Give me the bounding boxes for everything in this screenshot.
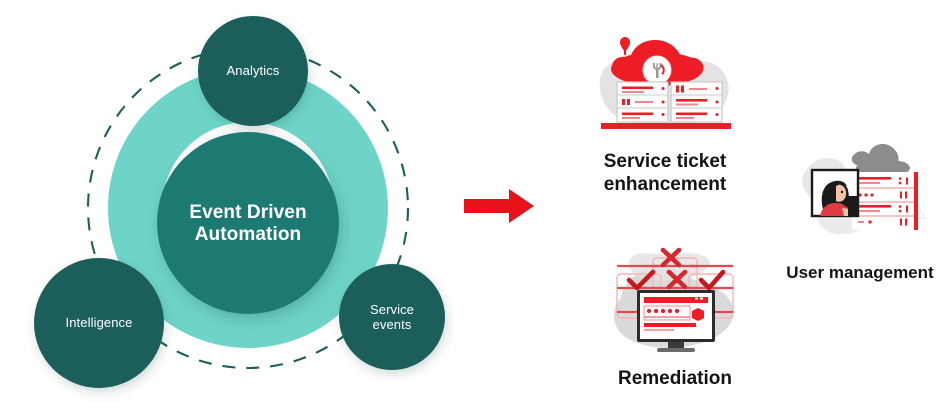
capability-label-user-management: User management [786,263,933,284]
satellite-circle-analytics[interactable] [198,16,308,126]
diagram-root: Event Driven Automation Analytics Intell… [0,0,939,403]
cluster-graphics [0,0,470,403]
list-panel [852,172,918,230]
user-photo-frame [812,170,858,216]
satellite-circle-service-events[interactable] [339,264,445,370]
flow-connector [462,186,540,226]
satellite-circle-intelligence[interactable] [34,258,164,388]
server-rack-right [671,82,722,122]
event-driven-automation-cluster: Event Driven Automation Analytics Intell… [0,0,470,403]
remediation-art [603,238,748,361]
user-photo-list-icon [790,140,930,252]
capability-label-remediation: Remediation [618,367,732,390]
user-management-art [790,140,930,257]
server-rack-left [617,82,668,122]
cloud-servers-wrench-icon [585,24,745,139]
monitor-checks-crosses-icon [603,238,748,356]
core-circle[interactable] [157,132,339,314]
capability-remediation[interactable]: Remediation [600,238,750,390]
capability-label-service-ticket-enhancement: Service ticket enhancement [604,150,727,196]
arrow-right-icon [462,186,540,226]
service-ticket-enhancement-art [585,24,745,144]
capability-user-management[interactable]: User management [780,140,939,284]
capability-service-ticket-enhancement[interactable]: Service ticket enhancement [570,24,760,196]
